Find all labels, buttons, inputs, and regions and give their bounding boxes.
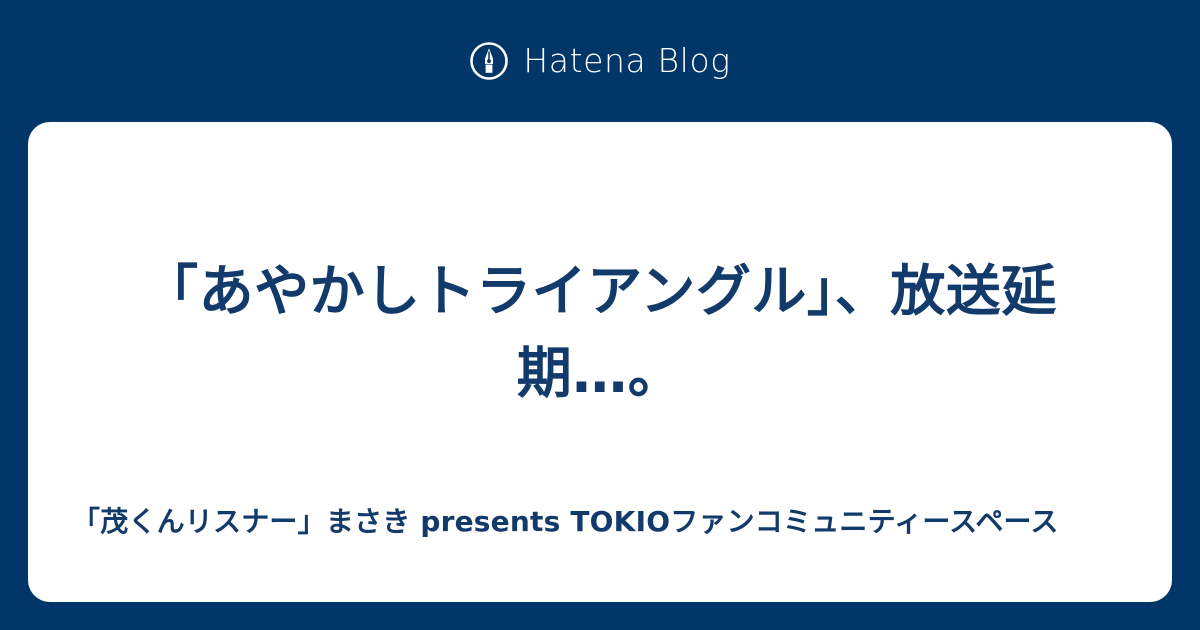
entry-title: 「あやかしトライアングル」、放送延期…。: [80, 250, 1120, 414]
blog-name-area: 「茂くんリスナー」まさき presents TOKIOファンコミュニティースペー…: [28, 502, 1172, 602]
hatena-pen-nib-circle-icon: [469, 41, 509, 81]
brand-header: Hatena Blog: [0, 0, 1200, 122]
ogp-card: 「あやかしトライアングル」、放送延期…。 「茂くんリスナー」まさき presen…: [28, 122, 1172, 602]
brand-name-label: Hatena Blog: [523, 41, 730, 81]
entry-title-area: 「あやかしトライアングル」、放送延期…。: [28, 122, 1172, 502]
blog-name-label: 「茂くんリスナー」まさき presents TOKIOファンコミュニティースペー…: [72, 502, 1128, 542]
